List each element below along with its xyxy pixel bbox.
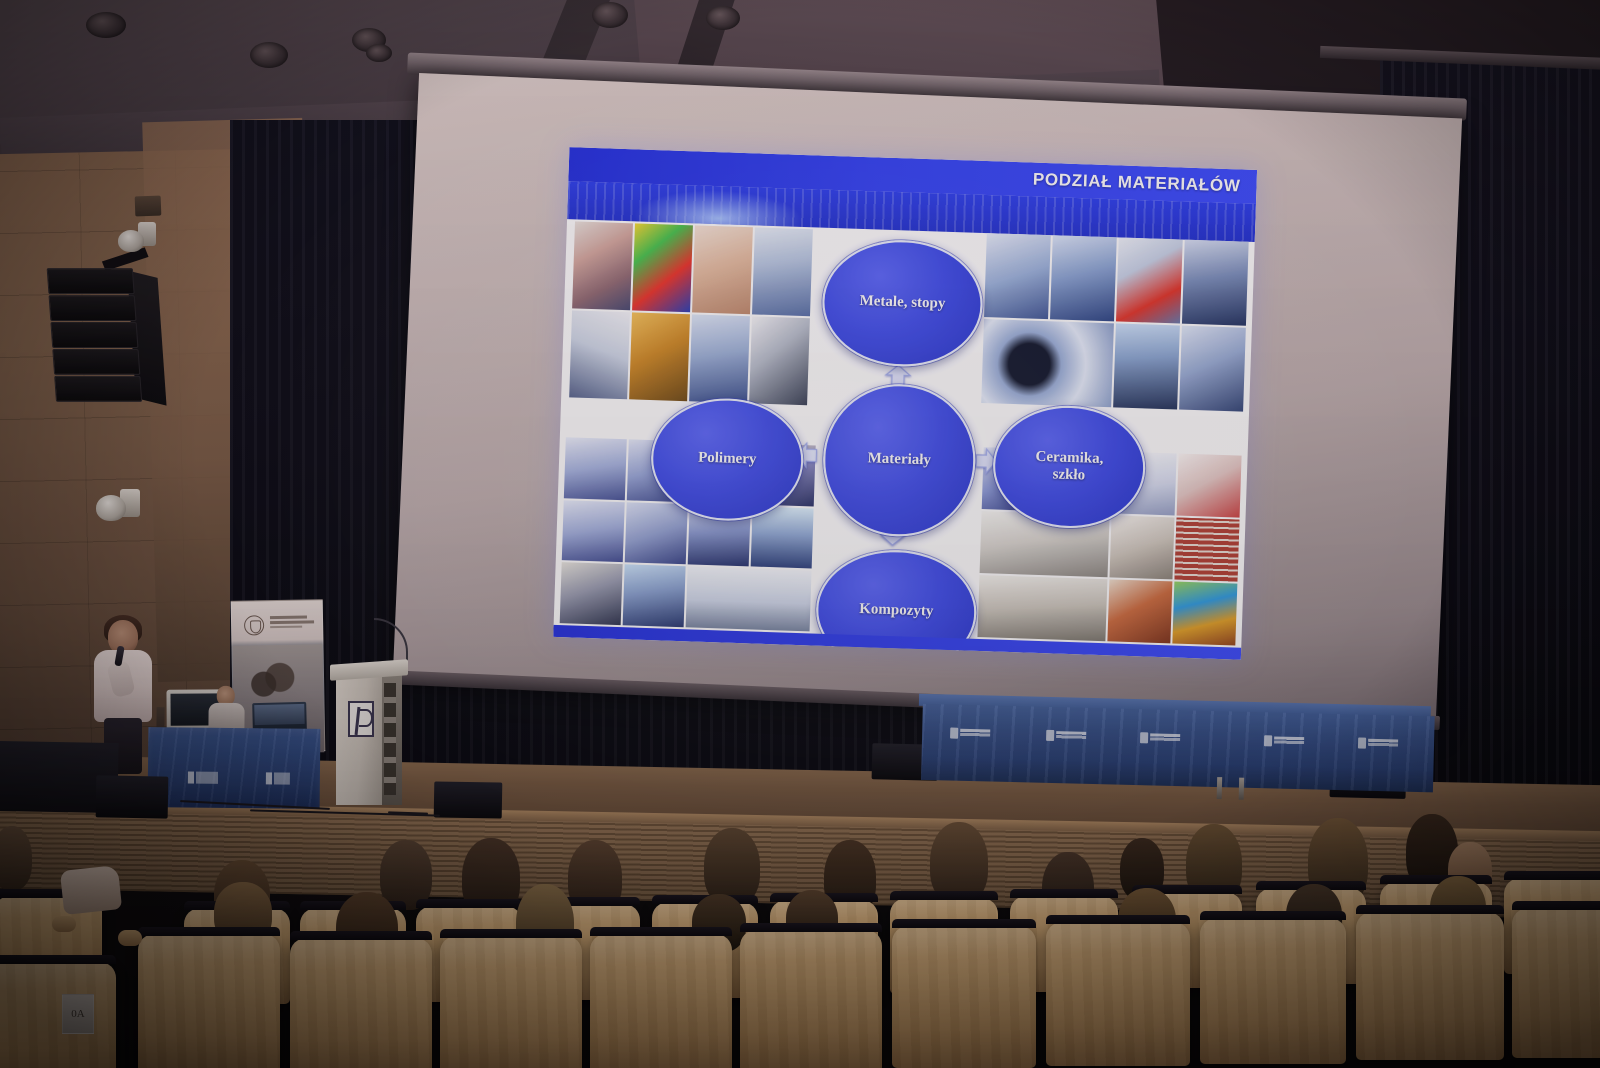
lectern — [334, 662, 404, 810]
auditorium-seat[interactable] — [892, 926, 1036, 1068]
seat-row-placard: 0A — [62, 994, 94, 1034]
arrow-up-icon — [884, 364, 913, 387]
security-camera-icon — [118, 222, 158, 252]
ceiling-downlight-icon — [250, 42, 288, 68]
banner-text-lines — [270, 615, 316, 630]
security-camera-icon — [96, 487, 140, 521]
node-metals-alloys: Metale, stopy — [820, 238, 984, 369]
auditorium-seat[interactable] — [138, 934, 280, 1068]
banquet-table-leg — [1239, 778, 1245, 800]
photo-plastic-bottles — [752, 227, 813, 316]
photo-plastic-sheeting — [569, 310, 630, 399]
photo-inflatable-raft — [689, 314, 750, 403]
auditorium-seat[interactable] — [1200, 918, 1346, 1064]
speaker-module — [50, 322, 138, 348]
ceiling-downlight-icon — [86, 12, 126, 38]
photo-wind-turbine-blades — [623, 565, 686, 628]
seat-armrest — [52, 916, 76, 932]
table-logo-politechnika — [1046, 729, 1086, 743]
audience-head — [0, 826, 32, 890]
photo-golf-club-head — [560, 562, 623, 625]
collage-polymers — [569, 221, 813, 405]
university-logo-icon — [348, 701, 374, 737]
photo-medical-pipettes — [692, 225, 753, 314]
wall-vent — [135, 196, 162, 217]
ceiling-downlight-icon — [592, 2, 628, 28]
audience-bag — [60, 865, 122, 915]
ceiling-downlight-icon — [706, 6, 740, 30]
photo-sanitary-ware-2 — [977, 575, 1107, 641]
auditorium-seat[interactable] — [1046, 922, 1190, 1066]
slide-title: PODZIAŁ MATERIAŁÓW — [1033, 170, 1257, 197]
node-composites-label: Kompozyty — [859, 601, 934, 621]
auditorium-seat[interactable] — [290, 938, 432, 1068]
photo-hip-implant — [1177, 454, 1242, 518]
photo-plastic-toys — [632, 223, 693, 312]
speaker-module — [47, 268, 135, 294]
line-array-speaker — [47, 268, 150, 418]
photo-prosthetic-leg — [562, 500, 625, 563]
auditorium-seat[interactable] — [740, 930, 882, 1068]
banquet-table-leg — [1217, 777, 1223, 799]
node-polymers-label: Polimery — [698, 450, 757, 469]
photo-food-packaging — [572, 221, 633, 310]
table-logo-politechnika — [1358, 736, 1398, 750]
camera-dome — [118, 230, 144, 252]
auditorium-seat[interactable] — [440, 936, 582, 1068]
tech-table — [148, 727, 321, 809]
photo-f14-fighter-jet — [1050, 235, 1117, 321]
photo-forged-metal-parts — [1179, 326, 1246, 412]
speaker-module — [49, 295, 137, 321]
node-materials-center: Materiały — [821, 382, 978, 539]
projected-slide: PODZIAŁ MATERIAŁÓW — [553, 147, 1257, 660]
photo-plastic-pipes — [749, 316, 810, 405]
auditorium-scene: PODZIAŁ MATERIAŁÓW — [0, 0, 1600, 1068]
seated-technician — [206, 686, 246, 732]
auditorium-seat[interactable] — [590, 934, 732, 1068]
speaker-module — [52, 349, 140, 375]
camera-dome — [96, 495, 126, 521]
photo-red-machine-clamp — [1116, 237, 1183, 323]
photo-engine-ceramic-parts — [1107, 579, 1172, 643]
photo-jet-engine-nacelle — [981, 319, 1114, 407]
photo-naval-ship — [751, 506, 814, 569]
auditorium-seat[interactable] — [1512, 908, 1600, 1058]
banquet-table — [917, 694, 1431, 792]
photo-engine-coil-spring — [1182, 240, 1249, 326]
photo-bathroom-fixtures — [1110, 515, 1175, 579]
table-logo-politechnika — [1264, 734, 1304, 748]
ceiling-downlight-icon — [366, 44, 392, 62]
photo-turbine-blade — [984, 233, 1051, 319]
photo-framed-display — [629, 312, 690, 401]
banner-logo-icon — [244, 615, 264, 635]
seat-armrest — [118, 930, 142, 946]
table-logo-politechnika — [1140, 731, 1180, 745]
photo-prosthetic-arm — [625, 502, 688, 565]
auditorium-seat[interactable] — [0, 962, 116, 1068]
lectern-side-rack — [380, 675, 402, 805]
audience-area: 0A — [0, 812, 1600, 1068]
speaker-module — [54, 376, 142, 402]
photo-steel-arch-bridge — [1113, 323, 1180, 409]
node-ceramics-line2: szkło — [1052, 466, 1085, 483]
table-logo — [188, 772, 222, 784]
node-materials-center-label: Materiały — [867, 451, 931, 470]
collage-metals — [981, 233, 1248, 412]
photo-colored-glass-bottles — [1172, 581, 1237, 645]
node-ceramics-line1: Ceramika, — [1035, 449, 1103, 467]
photo-prosthetic-foot — [564, 437, 627, 500]
node-metals-alloys-label: Metale, stopy — [859, 293, 945, 313]
projection-screen: PODZIAŁ MATERIAŁÓW — [370, 52, 1477, 738]
photo-racing-bicycle — [686, 567, 812, 632]
node-ceramics-glass-label: Ceramika, szkło — [1035, 449, 1104, 486]
table-logo-politechnika — [950, 727, 990, 741]
photo-red-brick-wall — [1174, 518, 1239, 582]
auditorium-seat[interactable] — [1356, 912, 1504, 1060]
lectern-body — [336, 675, 382, 805]
seat-row-placard-label: 0A — [71, 1008, 84, 1020]
table-logo — [266, 772, 290, 784]
tech-table-skirt — [148, 727, 321, 809]
